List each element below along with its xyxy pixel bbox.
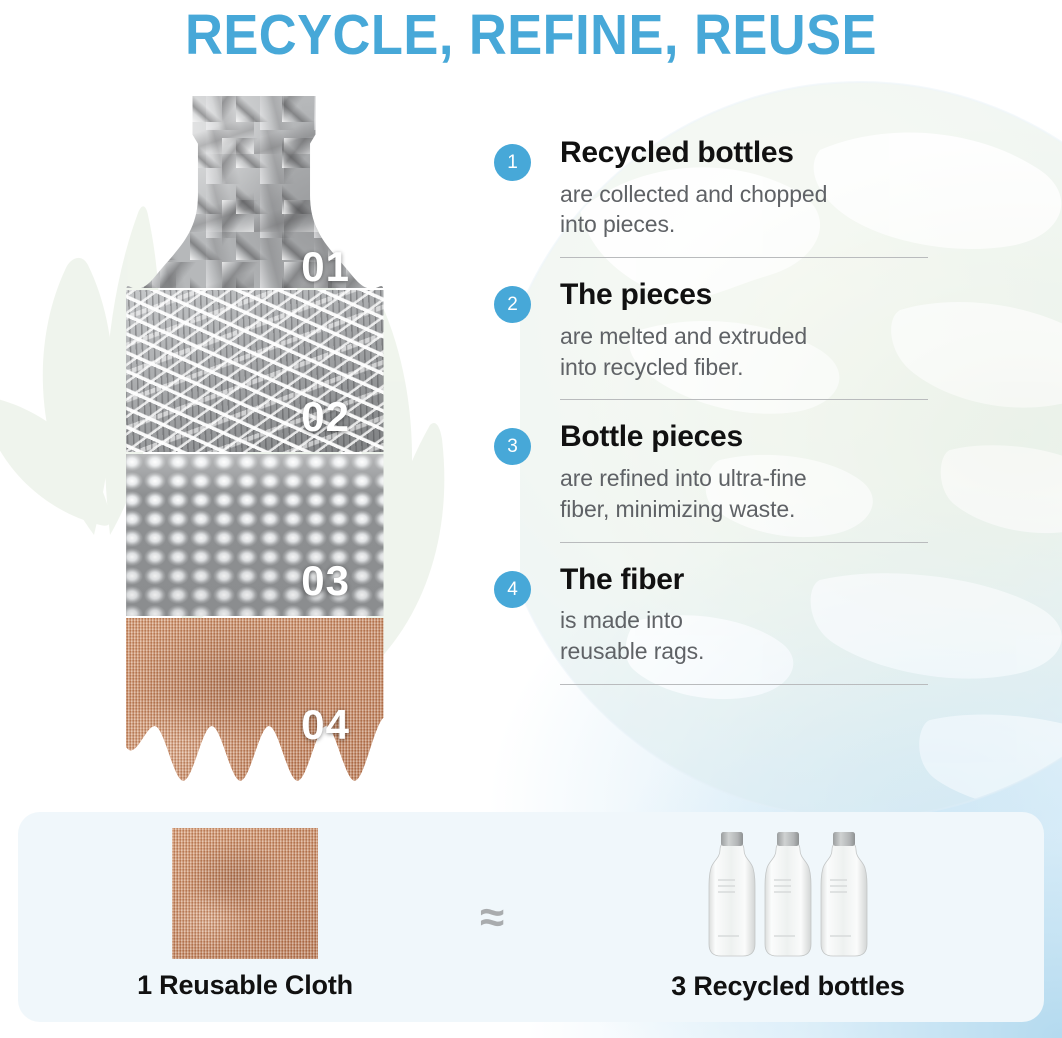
cloth-comparison-group: 1 Reusable Cloth [80, 812, 410, 1022]
infographic-page: RECYCLE, REFINE, REUSE 01 02 [0, 0, 1062, 1038]
step-badge-4: 4 [494, 571, 531, 608]
process-step-2: 2 The pieces are melted and extruded int… [494, 278, 934, 420]
step-body-3: are refined into ultra-fine fiber, minim… [560, 463, 934, 525]
step-divider-1 [560, 257, 928, 258]
equivalence-card: 1 Reusable Cloth ≈ [18, 812, 1044, 1022]
bottles-comparison-label: 3 Recycled bottles [671, 971, 905, 1002]
plastic-bottle-icon [817, 828, 871, 960]
step-title-1: Recycled bottles [560, 136, 934, 170]
bottle-trio-image [705, 824, 871, 960]
step-title-2: The pieces [560, 278, 934, 312]
page-title: RECYCLE, REFINE, REUSE [42, 2, 1019, 68]
step-badge-2: 2 [494, 286, 531, 323]
bottle-segment-number-02: 02 [301, 396, 350, 438]
step-body-2: are melted and extruded into recycled fi… [560, 321, 934, 383]
plastic-bottle-icon [705, 828, 759, 960]
plastic-bottle-icon [761, 828, 815, 960]
approximately-equal-icon: ≈ [480, 896, 504, 940]
step-title-4: The fiber [560, 563, 934, 597]
bottles-comparison-group: 3 Recycled bottles [578, 812, 998, 1022]
step-body-4: is made into reusable rags. [560, 605, 934, 667]
process-step-4: 4 The fiber is made into reusable rags. [494, 563, 934, 691]
step-badge-3: 3 [494, 428, 531, 465]
process-step-list: 1 Recycled bottles are collected and cho… [494, 136, 934, 691]
step-divider-2 [560, 399, 928, 400]
bottle-segment-number-03: 03 [301, 560, 350, 602]
step-body-1: are collected and chopped into pieces. [560, 179, 934, 241]
step-divider-4 [560, 684, 928, 685]
bottle-segment-number-01: 01 [301, 246, 350, 288]
process-step-3: 3 Bottle pieces are refined into ultra-f… [494, 420, 934, 562]
bottle-segment-number-04: 04 [301, 704, 350, 746]
step-divider-3 [560, 542, 928, 543]
cloth-comparison-label: 1 Reusable Cloth [137, 970, 353, 1001]
bottle-illustration: 01 02 03 04 [118, 96, 390, 796]
cloth-swatch-image [172, 828, 318, 959]
step-title-3: Bottle pieces [560, 420, 934, 454]
process-step-1: 1 Recycled bottles are collected and cho… [494, 136, 934, 278]
step-badge-1: 1 [494, 144, 531, 181]
